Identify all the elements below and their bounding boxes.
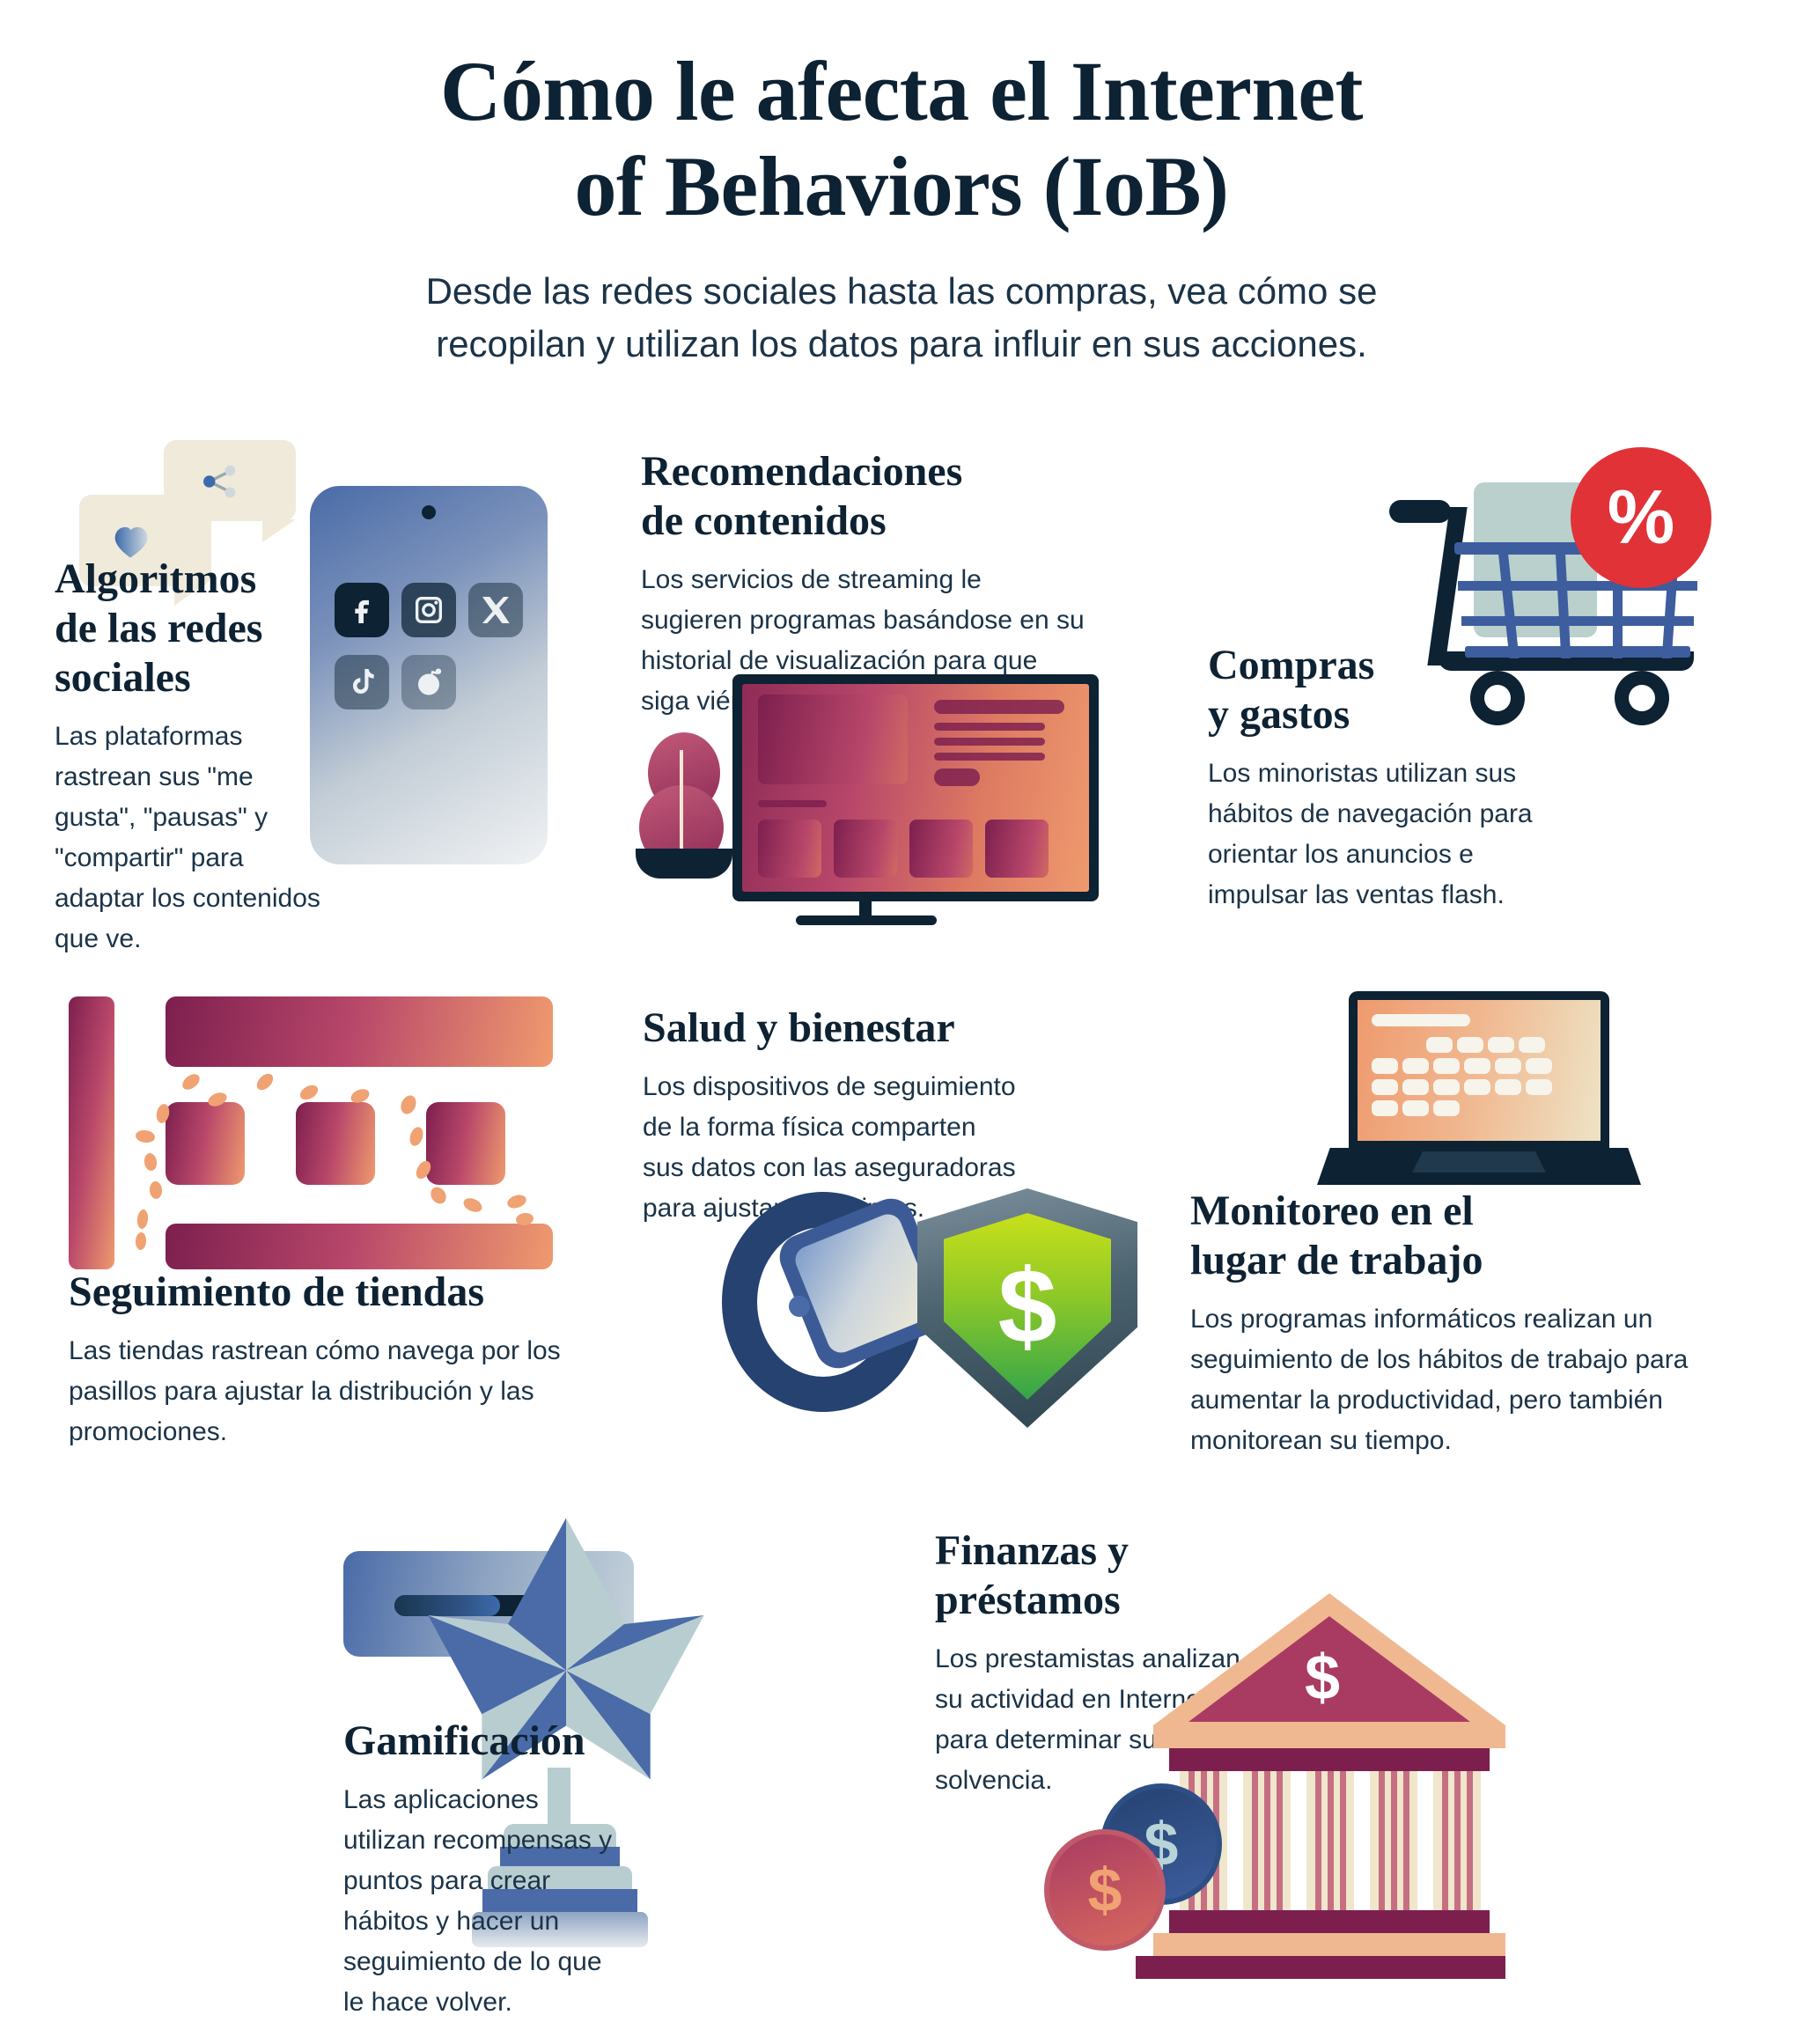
laptop-key [1495, 1079, 1521, 1095]
tv-screen [742, 684, 1089, 892]
card-social-algorithms: Algoritmos de las redes sociales Las pla… [55, 555, 327, 960]
tv-thumb [909, 820, 973, 878]
bank-architrave [1169, 1748, 1490, 1771]
illustration-smartwatch-and-shield: $ [704, 1171, 1144, 1426]
tv-thumb [758, 820, 821, 878]
card-gamification: Gamificación Las aplicaciones utilizan r… [343, 1717, 616, 2023]
laptop-key [1426, 1037, 1453, 1053]
bank-entablature [1153, 1725, 1505, 1748]
smartphone [310, 486, 548, 864]
bank-column [1306, 1771, 1354, 1910]
tv-title-bar [934, 700, 1064, 714]
card-body-shopping-spending: Los minoristas utilizan sus hábitos de n… [1208, 754, 1542, 915]
insurance-shield-outer: $ [917, 1188, 1137, 1428]
page-title-line-2: of Behaviors (IoB) [0, 139, 1803, 234]
smartwatch-crown [789, 1296, 810, 1317]
card-body-store-tracking: Las tiendas rastrean cómo navega por los… [69, 1331, 579, 1452]
tv-stand-foot [796, 915, 937, 925]
laptop-key [1526, 1058, 1552, 1074]
reddit-icon [401, 655, 456, 710]
infographic-page: Cómo le afecta el Internet of Behaviors … [0, 0, 1803, 2044]
laptop-key [1402, 1058, 1429, 1074]
discount-badge: % [1571, 447, 1711, 588]
footprint [149, 1181, 162, 1200]
laptop-screen [1358, 1000, 1601, 1141]
footprint [136, 1209, 149, 1229]
shelf-island-3 [426, 1102, 505, 1185]
footprint [144, 1152, 158, 1172]
card-body-social-algorithms: Las plataformas rastrean sus "me gusta",… [55, 717, 327, 959]
tv-row-label [758, 800, 827, 807]
card-heading-shopping-spending: Compras y gastos [1208, 641, 1542, 739]
tv-hero-tile [758, 695, 908, 784]
tv-thumb [985, 820, 1049, 878]
illustration-laptop [1317, 991, 1643, 1202]
page-title-line-1: Cómo le afecta el Internet [0, 44, 1803, 139]
shelf-left-vertical [69, 996, 114, 1269]
share-bubble [164, 440, 296, 521]
laptop-key [1372, 1100, 1398, 1116]
coin-red: $ [1044, 1829, 1166, 1951]
facebook-icon [335, 583, 389, 637]
footprint [428, 1184, 449, 1207]
bank-stylobate [1169, 1910, 1490, 1933]
laptop-key [1495, 1058, 1521, 1074]
shelf-top-horizontal [166, 996, 553, 1067]
laptop-key [1488, 1037, 1514, 1053]
footprint [461, 1195, 484, 1215]
laptop-search-bar [1372, 1014, 1470, 1026]
laptop-lid [1349, 991, 1609, 1148]
card-heading-content-recommendations: Recomendaciones de contenidos [641, 447, 1090, 546]
laptop-key [1372, 1058, 1398, 1074]
page-subtitle-line-2: recopilan y utilizan los datos para infl… [0, 318, 1803, 371]
footprint [254, 1070, 276, 1093]
card-shopping-spending: Compras y gastos Los minoristas utilizan… [1208, 641, 1542, 915]
footprint [398, 1093, 419, 1117]
illustration-television [632, 651, 1099, 889]
laptop-key [1526, 1079, 1552, 1095]
tv-thumb [834, 820, 897, 878]
footprint [408, 1125, 425, 1147]
tiktok-icon [335, 655, 389, 710]
page-title: Cómo le afecta el Internet of Behaviors … [0, 44, 1803, 235]
laptop-key [1464, 1058, 1490, 1074]
bank-step [1153, 1933, 1505, 1956]
page-subtitle-line-1: Desde las redes sociales hasta las compr… [0, 265, 1803, 318]
cart-wheel-right [1615, 671, 1669, 725]
tv-play-button [934, 768, 980, 786]
footprint [135, 1232, 146, 1251]
shield-dollar-symbol: $ [944, 1213, 1111, 1400]
laptop-key [1433, 1058, 1460, 1074]
x-twitter-icon [468, 583, 523, 637]
card-workplace-monitoring: Monitoreo en el lugar de trabajo Los pro… [1190, 1187, 1727, 1461]
discount-badge-symbol: % [1608, 474, 1674, 562]
laptop-key [1402, 1100, 1429, 1116]
coin-red-symbol: $ [1088, 1855, 1122, 1925]
card-heading-gamification: Gamificación [343, 1717, 616, 1766]
shelf-island-2 [296, 1102, 375, 1185]
shelf-island-1 [166, 1102, 245, 1185]
shelf-bottom-horizontal [166, 1224, 553, 1269]
share-icon [195, 458, 243, 505]
card-heading-store-tracking: Seguimiento de tiendas [69, 1268, 579, 1317]
illustration-bank-with-coins: $ $ $ [1012, 1593, 1488, 1981]
tv-frame [732, 674, 1099, 901]
insurance-shield-inner: $ [944, 1213, 1111, 1400]
bank-column [1433, 1771, 1481, 1910]
header: Cómo le afecta el Internet of Behaviors … [0, 44, 1803, 370]
footprint [505, 1193, 527, 1210]
card-store-tracking: Seguimiento de tiendas Las tiendas rastr… [69, 1268, 579, 1452]
laptop-key [1464, 1079, 1490, 1095]
card-heading-health-wellness: Salud y bienestar [643, 1004, 1021, 1053]
cart-handle-grip [1389, 500, 1451, 523]
laptop-key [1519, 1037, 1545, 1053]
footprint [135, 1129, 156, 1144]
instagram-icon [401, 583, 456, 637]
laptop-key [1372, 1079, 1398, 1095]
footprint [298, 1082, 320, 1102]
card-body-workplace-monitoring: Los programas informáticos realizan un s… [1190, 1299, 1727, 1461]
card-heading-workplace-monitoring: Monitoreo en el lugar de trabajo [1190, 1187, 1727, 1285]
footprint [180, 1071, 202, 1093]
bank-base [1136, 1956, 1505, 1979]
card-body-gamification: Las aplicaciones utilizan recompensas y … [343, 1780, 616, 2022]
phone-camera-dot [422, 505, 436, 519]
page-subtitle: Desde las redes sociales hasta las compr… [0, 265, 1803, 370]
laptop-key [1433, 1100, 1460, 1116]
bank-dollar-symbol: $ [1305, 1646, 1340, 1709]
card-heading-social-algorithms: Algoritmos de las redes sociales [55, 555, 327, 702]
illustration-store-floorplan [69, 988, 562, 1278]
plant-pot [636, 849, 732, 879]
bank-column [1243, 1771, 1291, 1910]
smartwatch-screen [791, 1210, 938, 1357]
laptop-key [1402, 1079, 1429, 1095]
tv-text-line [934, 753, 1045, 761]
laptop-key [1433, 1079, 1460, 1095]
bank-column [1370, 1771, 1417, 1910]
laptop-key [1457, 1037, 1483, 1053]
laptop-trackpad [1412, 1151, 1546, 1173]
tv-text-line [934, 738, 1045, 746]
tv-text-line [934, 723, 1045, 731]
